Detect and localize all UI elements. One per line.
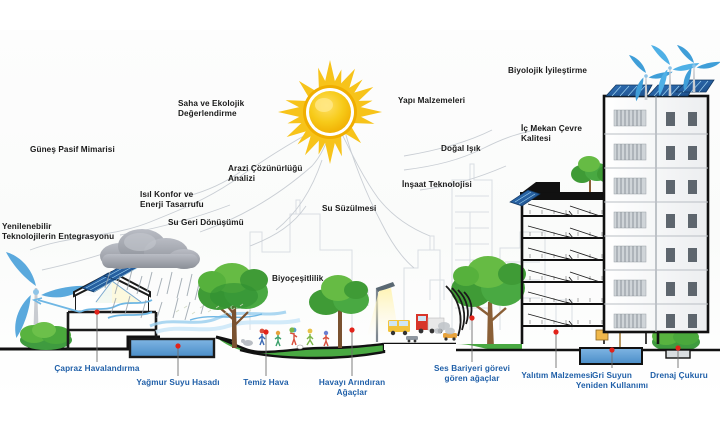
label-arazi-cozunurlugu-analizi: Arazi Çözünürlüğü Analizi — [228, 164, 302, 185]
rain-cloud-icon — [100, 229, 200, 269]
label-insaat-teknolojisi: İnşaat Teknolojisi — [402, 180, 472, 190]
residential-tower — [604, 45, 720, 332]
water-basin — [128, 337, 216, 359]
callout-drenaj-cukuru: Drenaj Çukuru — [640, 371, 718, 381]
label-su-geri-donusumu: Su Geri Dönüşümü — [168, 218, 244, 228]
callout-havayi-arindiran-agaclar: Havayı Arındıran Ağaçlar — [310, 378, 394, 399]
shrub-left — [20, 322, 72, 350]
infographic-canvas: Güneş Pasif Mimarisi Yenilenebilir Tekno… — [0, 0, 720, 427]
label-biyolojik-iyilestirme: Biyolojik İyileştirme — [508, 66, 587, 76]
label-yenilenebilir-teknolojilerin-entegrasyonu: Yenilenebilir Teknolojilerin Entegrasyon… — [2, 222, 114, 243]
label-biyocesitlilik: Biyoçeşitlilik — [272, 274, 323, 284]
sun-icon — [278, 60, 382, 164]
drainage-pit — [658, 350, 720, 358]
label-dogal-isik: Doğal Işık — [441, 144, 481, 154]
callout-capraz-havalandirma: Çapraz Havalandırma — [41, 364, 153, 374]
water-flow — [150, 312, 300, 332]
park-with-people — [241, 327, 329, 349]
callout-yagmur-suyu-hasadi: Yağmur Suyu Hasadı — [123, 378, 233, 388]
label-saha-ve-ekolojik-degerlendirme: Saha ve Ekolojik Değerlendirme — [178, 99, 244, 120]
label-su-suzulmesi: Su Süzülmesi — [322, 204, 376, 214]
callout-temiz-hava: Temiz Hava — [232, 378, 300, 388]
callout-ses-bariyeri-goren-agaclar: Ses Bariyeri görevi gören ağaçlar — [424, 364, 520, 385]
label-isil-konfor-ve-enerji-tasarrufu: Isıl Konfor ve Enerji Tasarrufu — [140, 190, 204, 211]
tree-medium-park — [309, 275, 369, 348]
label-gunes-pasif-mimarisi: Güneş Pasif Mimarisi — [30, 145, 115, 155]
label-ic-mekan-cevre-kalitesi: İç Mekan Çevre Kalitesi — [521, 124, 582, 145]
label-yapi-malzemeleri: Yapı Malzemeleri — [398, 96, 465, 106]
daylight-arrows — [528, 204, 600, 326]
tree-large-left — [198, 263, 268, 348]
